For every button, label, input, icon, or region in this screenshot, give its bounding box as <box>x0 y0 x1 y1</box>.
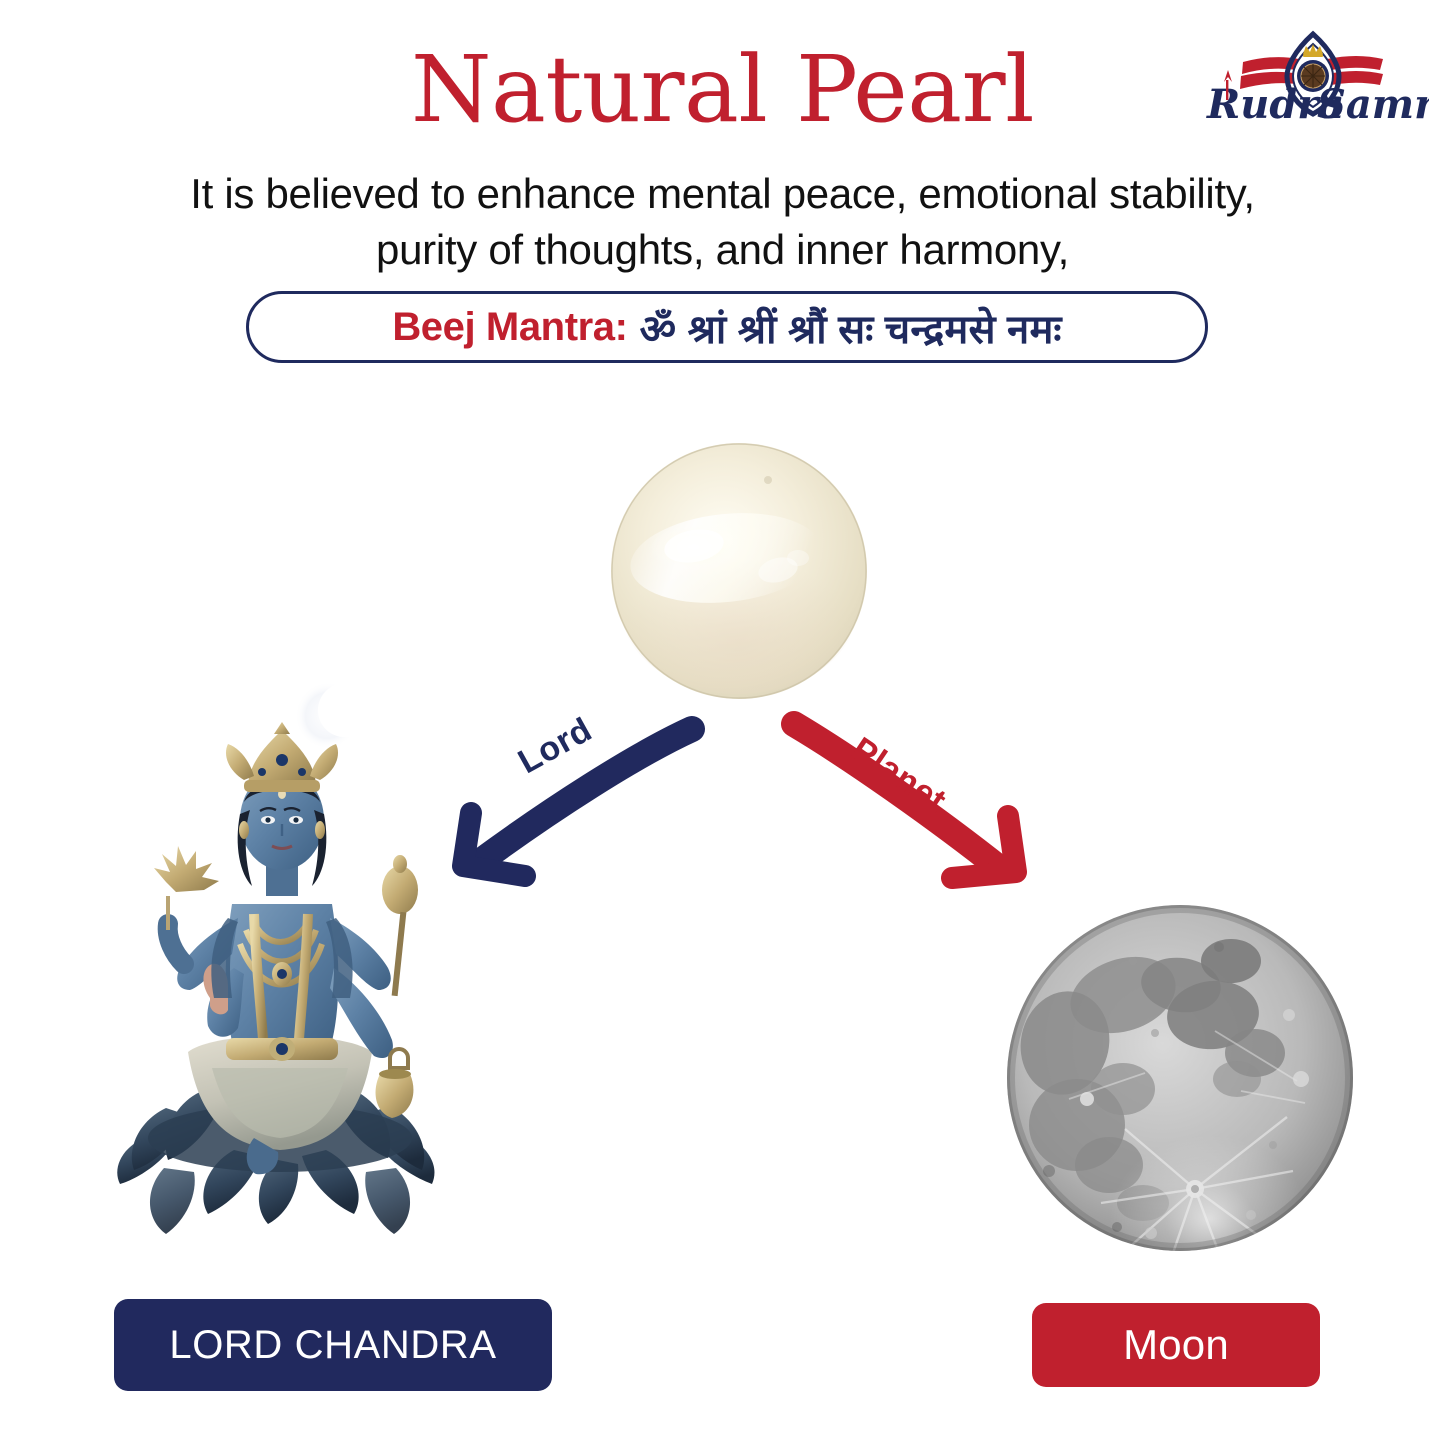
pearl-sphere-icon <box>608 440 870 702</box>
crescent-moon-icon <box>290 677 366 755</box>
infographic-canvas: Rudra Samrat Natural Pearl It is believe… <box>0 0 1445 1445</box>
beej-mantra-label: Beej Mantra: <box>392 305 627 350</box>
kalash-pot-icon <box>376 1049 414 1118</box>
subtitle-line-1: It is believed to enhance mental peace, … <box>105 166 1340 222</box>
beej-mantra-box: Beej Mantra: ॐ श्रां श्रीं श्रौं सः चन्द… <box>246 291 1208 363</box>
moon-badge[interactable]: Moon <box>1032 1303 1320 1387</box>
subtitle-line-2: purity of thoughts, and inner harmony, <box>105 222 1340 278</box>
beej-mantra-text: ॐ श्रां श्रीं श्रौं सः चन्द्रमसे नमः <box>640 300 1062 355</box>
lord-chandra-deity-icon <box>104 668 484 1280</box>
subtitle-block: It is believed to enhance mental peace, … <box>105 166 1340 278</box>
full-moon-icon <box>1005 903 1355 1253</box>
page-title: Natural Pearl <box>0 44 1445 136</box>
lord-chandra-badge[interactable]: LORD CHANDRA <box>114 1299 552 1391</box>
